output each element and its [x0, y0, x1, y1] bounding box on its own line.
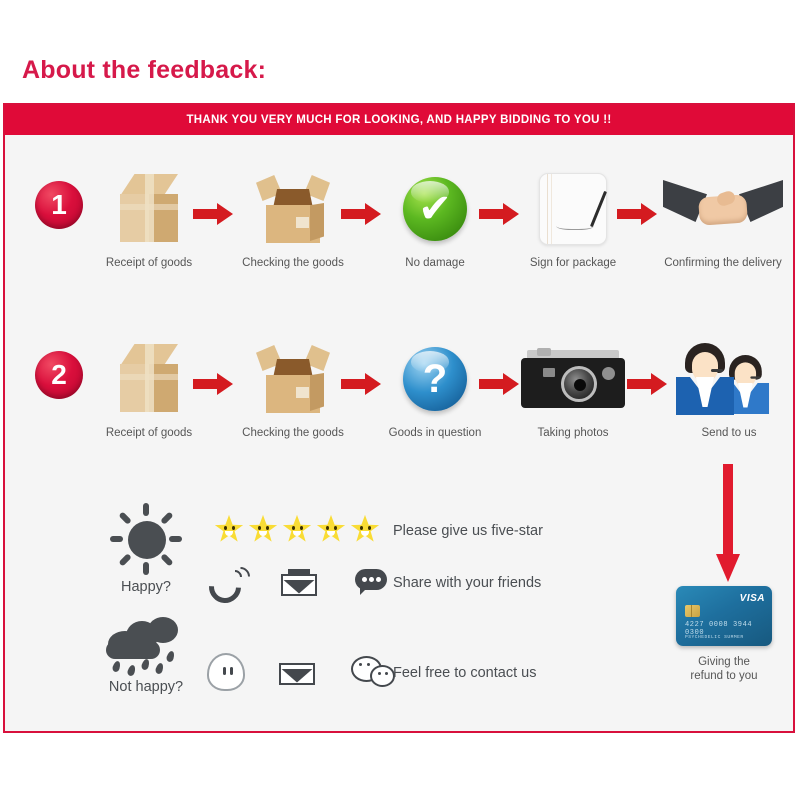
refund-caption-line1: Giving the	[660, 655, 788, 669]
closed-box-icon	[89, 167, 209, 251]
step-caption: Checking the goods	[233, 427, 353, 439]
refund-caption-line2: refund to you	[660, 669, 788, 683]
step-checking-the-goods-1: Checking the goods	[233, 167, 353, 269]
question-glyph: ?	[403, 347, 467, 411]
happy-group: Happy?	[91, 503, 201, 595]
happy-label: Happy?	[91, 579, 201, 595]
step-no-damage: ✔ No damage	[375, 167, 495, 269]
banner-text: THANK YOU VERY MUCH FOR LOOKING, AND HAP…	[186, 114, 611, 126]
number-badge-one: 1	[35, 181, 83, 229]
notepad-signing-icon	[513, 167, 633, 251]
share-icons-row	[209, 567, 389, 597]
star-icon	[249, 515, 277, 543]
five-star-row	[215, 515, 379, 543]
step-caption: Receipt of goods	[89, 427, 209, 439]
handshake-icon	[653, 167, 793, 251]
wechat-icon	[351, 656, 395, 686]
thank-you-banner: THANK YOU VERY MUCH FOR LOOKING, AND HAP…	[5, 105, 793, 135]
open-box-icon	[233, 167, 353, 251]
card-chip-icon	[685, 605, 700, 617]
check-glyph: ✔	[403, 177, 467, 241]
step-caption: Checking the goods	[233, 257, 353, 269]
step-caption: Send to us	[667, 427, 791, 439]
step-caption: Receipt of goods	[89, 257, 209, 269]
step-sign-for-package: Sign for package	[513, 167, 633, 269]
step-send-to-us: Send to us	[667, 337, 791, 439]
number-badge-two: 2	[35, 351, 83, 399]
page-title: About the feedback:	[22, 56, 266, 85]
blue-question-sphere-icon: ?	[375, 337, 495, 421]
not-happy-group: Not happy?	[87, 613, 205, 695]
step-taking-photos: Taking photos	[505, 337, 641, 439]
camera-icon	[505, 337, 641, 421]
flow-row-1: 1 Receipt of goods	[5, 167, 793, 287]
arrow-right-icon	[617, 203, 657, 225]
step-goods-in-question: ? Goods in question	[375, 337, 495, 439]
five-star-text: Please give us five-star	[393, 523, 543, 539]
refund-caption: Giving the refund to you	[660, 655, 788, 683]
visa-card-icon: VISA 4227 0008 3944 0300 PSYCHEDELIC SUM…	[676, 586, 772, 646]
step-caption: No damage	[375, 257, 495, 269]
step-confirming-the-delivery: Confirming the delivery	[653, 167, 793, 269]
step-receipt-of-goods-1: Receipt of goods	[89, 167, 209, 269]
contact-icons-row	[205, 653, 395, 689]
envelope-icon	[281, 569, 317, 596]
star-icon	[317, 515, 345, 543]
arrow-right-icon	[193, 373, 233, 395]
visa-brand-label: VISA	[740, 593, 765, 604]
step-caption: Sign for package	[513, 257, 633, 269]
flow-row-2: 2 Receipt of goods	[5, 337, 793, 457]
star-icon	[351, 515, 379, 543]
green-check-sphere-icon: ✔	[375, 167, 495, 251]
contact-us-text: Feel free to contact us	[393, 665, 536, 681]
star-icon	[283, 515, 311, 543]
arrow-right-icon	[193, 203, 233, 225]
share-friends-text: Share with your friends	[393, 575, 541, 591]
step-receipt-of-goods-2: Receipt of goods	[89, 337, 209, 439]
step-caption: Goods in question	[375, 427, 495, 439]
chat-bubble-icon	[355, 569, 389, 595]
step-caption: Confirming the delivery	[653, 257, 793, 269]
step-caption: Taking photos	[505, 427, 641, 439]
support-people-icon	[667, 337, 791, 421]
envelope-icon	[279, 658, 315, 685]
step-checking-the-goods-2: Checking the goods	[233, 337, 353, 439]
open-box-icon	[233, 337, 353, 421]
down-arrow-icon	[716, 464, 740, 584]
feedback-infographic: About the feedback: THANK YOU VERY MUCH …	[0, 0, 800, 800]
arrow-right-icon	[627, 373, 667, 395]
qq-penguin-icon	[205, 653, 243, 689]
phone-icon	[209, 567, 243, 597]
sun-icon	[110, 503, 182, 575]
rain-cloud-icon	[104, 613, 188, 675]
not-happy-label: Not happy?	[87, 679, 205, 695]
star-icon	[215, 515, 243, 543]
closed-box-icon	[89, 337, 209, 421]
card-holder-name: PSYCHEDELIC SUMMER	[685, 635, 744, 640]
